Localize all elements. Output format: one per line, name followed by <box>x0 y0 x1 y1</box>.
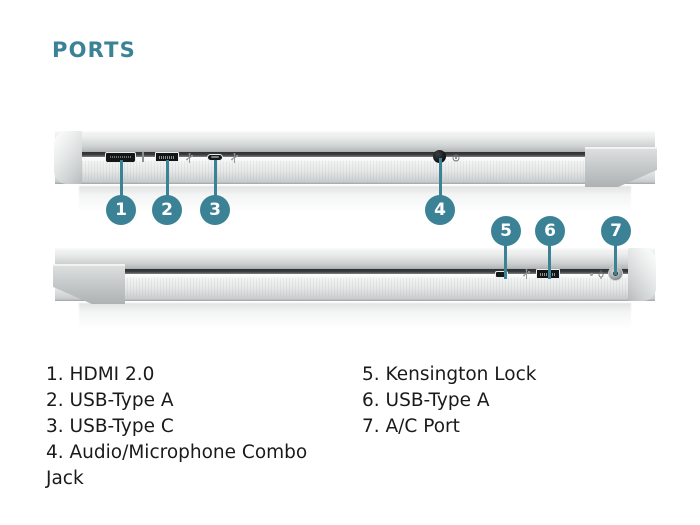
callout-bubble-4[interactable]: 4 <box>425 195 455 225</box>
power-led-indicator <box>590 273 593 276</box>
left-rounded-cap <box>54 131 82 184</box>
callout-leader-6 <box>548 245 551 279</box>
legend-item-6: 6. USB-Type A <box>362 388 662 414</box>
callout-bubble-1[interactable]: 1 <box>106 195 136 225</box>
hdmi-label-mark <box>141 152 145 162</box>
lid-highlight <box>55 248 655 252</box>
callout-leader-7 <box>614 245 617 275</box>
callout-leader-5 <box>504 245 507 279</box>
laptop-reflection <box>79 303 631 329</box>
laptop-top-view <box>55 131 655 199</box>
usb-c-trident-icon <box>231 153 238 164</box>
legend-item-1: 1. HDMI 2.0 <box>46 362 336 388</box>
laptop-texture <box>73 278 637 297</box>
headphone-icon <box>452 154 460 162</box>
callout-bubble-2[interactable]: 2 <box>152 195 182 225</box>
base-shadow-line <box>55 299 655 301</box>
legend-right-column: 5. Kensington Lock 6. USB-Type A 7. A/C … <box>362 362 662 440</box>
power-plug-icon <box>597 269 605 279</box>
laptop-bottom-view <box>55 248 655 316</box>
legend-left-column: 1. HDMI 2.0 2. USB-Type A 3. USB-Type C … <box>46 362 336 492</box>
callout-bubble-3[interactable]: 3 <box>200 195 230 225</box>
right-rounded-cap <box>628 248 656 301</box>
legend-item-7: 7. A/C Port <box>362 414 662 440</box>
callout-bubble-6[interactable]: 6 <box>535 216 565 246</box>
callout-bubble-7[interactable]: 7 <box>601 216 631 246</box>
usb-trident-icon <box>523 269 530 280</box>
callout-bubble-5[interactable]: 5 <box>491 216 521 246</box>
laptop-texture <box>73 161 637 180</box>
legend-item-3: 3. USB-Type C <box>46 414 336 440</box>
base-shadow-line <box>55 182 655 184</box>
lid-highlight <box>55 131 655 135</box>
laptop-lid <box>55 248 655 269</box>
usb-trident-icon <box>186 153 193 164</box>
laptop-lid <box>55 131 655 152</box>
legend-item-2: 2. USB-Type A <box>46 388 336 414</box>
legend-item-4: 4. Audio/Microphone Combo Jack <box>46 440 336 492</box>
legend-item-5: 5. Kensington Lock <box>362 362 662 388</box>
